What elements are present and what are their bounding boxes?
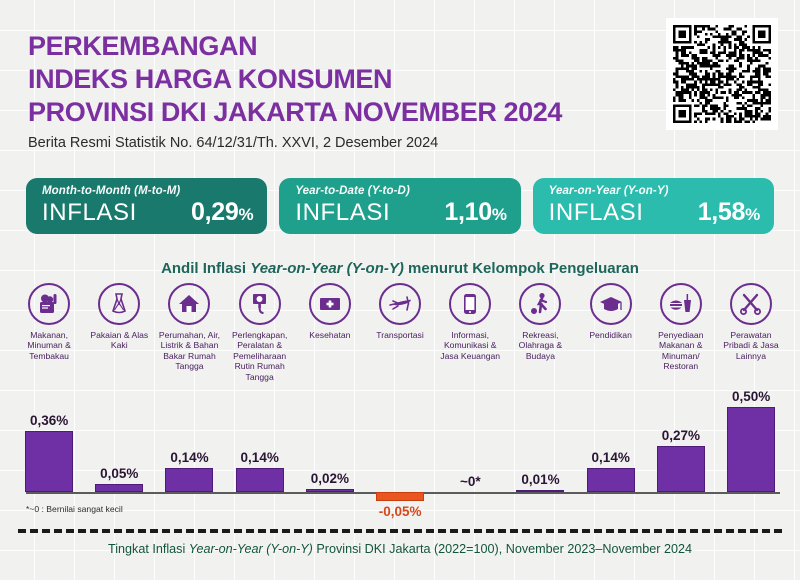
- bar-0[interactable]: [25, 431, 73, 492]
- bar-slot-2: 0,14%: [154, 392, 224, 504]
- category-label: Perawatan Pribadi & Jasa Lainnya: [717, 330, 785, 361]
- bar-label-4: 0,02%: [295, 471, 365, 486]
- category-1: Pakaian & Alas Kaki: [84, 283, 154, 382]
- bar-slot-8: 0,14%: [576, 392, 646, 504]
- bar-slot-5: -0,05%: [365, 392, 435, 504]
- plug-icon: [239, 283, 281, 325]
- stat-card-0: Month-to-Month (M-to-M)INFLASI0,29%: [26, 178, 267, 234]
- bar-label-0: 0,36%: [14, 413, 84, 428]
- bar-label-1: 0,05%: [84, 466, 154, 481]
- airplane-icon: [379, 283, 421, 325]
- stat-card-kicker: Year-on-Year (Y-on-Y): [549, 185, 760, 197]
- bar-slot-9: 0,27%: [646, 392, 716, 504]
- soccer-player-icon: [519, 283, 561, 325]
- category-2: Perumahan, Air, Listrik & Bahan Bakar Ru…: [154, 283, 224, 382]
- bar-slot-1: 0,05%: [84, 392, 154, 504]
- bar-slot-7: 0,01%: [505, 392, 575, 504]
- bar-3[interactable]: [236, 468, 284, 492]
- category-5: Transportasi: [365, 283, 435, 382]
- graduation-cap-icon: [590, 283, 632, 325]
- bar-1[interactable]: [95, 484, 143, 493]
- category-label: Makanan, Minuman & Tembakau: [15, 330, 83, 361]
- stat-card-word: INFLASI: [42, 199, 137, 227]
- category-3: Perlengkapan, Peralatan & Pemeliharaan R…: [225, 283, 295, 382]
- infographic-page: PERKEMBANGAN INDEKS HARGA KONSUMEN PROVI…: [0, 0, 800, 580]
- bar-10[interactable]: [727, 407, 775, 492]
- category-label: Informasi, Komunikasi & Jasa Keuangan: [436, 330, 504, 361]
- category-label: Perumahan, Air, Listrik & Bahan Bakar Ru…: [155, 330, 223, 372]
- stat-card-kicker: Month-to-Month (M-to-M): [42, 185, 253, 197]
- bar-5[interactable]: [376, 492, 424, 501]
- stat-card-1: Year-to-Date (Y-to-D)INFLASI1,10%: [279, 178, 520, 234]
- publication-subtitle: Berita Resmi Statistik No. 64/12/31/Th. …: [28, 135, 562, 151]
- smartphone-icon: [449, 283, 491, 325]
- stat-card-value: 1,58%: [698, 198, 760, 227]
- category-8: Pendidikan: [576, 283, 646, 382]
- category-7: Rekreasi, Olahraga & Budaya: [505, 283, 575, 382]
- chart-footnote: *~0 : Bernilai sangat kecil: [26, 504, 123, 514]
- bar-label-6: ~0*: [435, 474, 505, 489]
- bar-label-5: -0,05%: [365, 504, 435, 519]
- stat-card-value: 1,10%: [444, 198, 506, 227]
- bar-label-2: 0,14%: [154, 450, 224, 465]
- category-10: Perawatan Pribadi & Jasa Lainnya: [716, 283, 786, 382]
- house-icon: [168, 283, 210, 325]
- andil-bar-chart: 0,36%0,05%0,14%0,14%0,02%-0,05%~0*0,01%0…: [14, 392, 786, 504]
- bar-4[interactable]: [306, 489, 354, 492]
- category-label: Rekreasi, Olahraga & Budaya: [506, 330, 574, 361]
- category-icon-row: Makanan, Minuman & TembakauPakaian & Ala…: [14, 283, 786, 382]
- category-label: Penyediaan Makanan & Minuman/ Restoran: [647, 330, 715, 372]
- category-label: Kesehatan: [296, 330, 364, 340]
- bar-slot-6: ~0*: [435, 392, 505, 504]
- category-6: Informasi, Komunikasi & Jasa Keuangan: [435, 283, 505, 382]
- andil-heading-post: menurut Kelompok Pengeluaran: [404, 260, 639, 277]
- category-0: Makanan, Minuman & Tembakau: [14, 283, 84, 382]
- groceries-icon: [28, 283, 70, 325]
- stat-card-kicker: Year-to-Date (Y-to-D): [295, 185, 506, 197]
- stat-card-word: INFLASI: [549, 199, 644, 227]
- qr-code[interactable]: [666, 18, 778, 130]
- andil-heading-pre: Andil Inflasi: [161, 260, 250, 277]
- footer-caption: Tingkat Inflasi Year-on-Year (Y-on-Y) Pr…: [0, 542, 800, 556]
- category-9: Penyediaan Makanan & Minuman/ Restoran: [646, 283, 716, 382]
- dashed-divider: [18, 529, 782, 533]
- category-label: Pakaian & Alas Kaki: [85, 330, 153, 351]
- stat-card-word: INFLASI: [295, 199, 390, 227]
- fastfood-icon: [660, 283, 702, 325]
- header-block: PERKEMBANGAN INDEKS HARGA KONSUMEN PROVI…: [28, 30, 562, 151]
- bar-label-7: 0,01%: [505, 472, 575, 487]
- footer-post: Provinsi DKI Jakarta (2022=100), Novembe…: [313, 542, 692, 556]
- category-label: Transportasi: [366, 330, 434, 340]
- qr-code-canvas: [673, 25, 771, 123]
- stat-card-value: 0,29%: [191, 198, 253, 227]
- medical-cross-icon: [309, 283, 351, 325]
- bar-slot-4: 0,02%: [295, 392, 365, 504]
- bar-slot-10: 0,50%: [716, 392, 786, 504]
- bar-8[interactable]: [587, 468, 635, 492]
- bar-label-9: 0,27%: [646, 428, 716, 443]
- bar-label-10: 0,50%: [716, 389, 786, 404]
- title-line-3: PROVINSI DKI JAKARTA NOVEMBER 2024: [28, 96, 562, 129]
- bar-label-8: 0,14%: [576, 450, 646, 465]
- andil-section-heading: Andil Inflasi Year-on-Year (Y-on-Y) menu…: [0, 260, 800, 277]
- dress-icon: [98, 283, 140, 325]
- footer-italic: Year-on-Year (Y-on-Y): [189, 542, 313, 556]
- category-label: Pendidikan: [577, 330, 645, 340]
- stat-card-row: Month-to-Month (M-to-M)INFLASI0,29%Year-…: [26, 178, 774, 234]
- bar-9[interactable]: [657, 446, 705, 492]
- bar-slot-0: 0,36%: [14, 392, 84, 504]
- title-line-1: PERKEMBANGAN: [28, 30, 562, 63]
- title-line-2: INDEKS HARGA KONSUMEN: [28, 63, 562, 96]
- andil-heading-italic: Year-on-Year (Y-on-Y): [250, 260, 404, 277]
- category-label: Perlengkapan, Peralatan & Pemeliharaan R…: [226, 330, 294, 382]
- category-4: Kesehatan: [295, 283, 365, 382]
- scissors-comb-icon: [730, 283, 772, 325]
- stat-card-2: Year-on-Year (Y-on-Y)INFLASI1,58%: [533, 178, 774, 234]
- bar-7[interactable]: [516, 490, 564, 492]
- footer-pre: Tingkat Inflasi: [108, 542, 189, 556]
- bar-slot-3: 0,14%: [225, 392, 295, 504]
- bar-label-3: 0,14%: [225, 450, 295, 465]
- bar-2[interactable]: [165, 468, 213, 492]
